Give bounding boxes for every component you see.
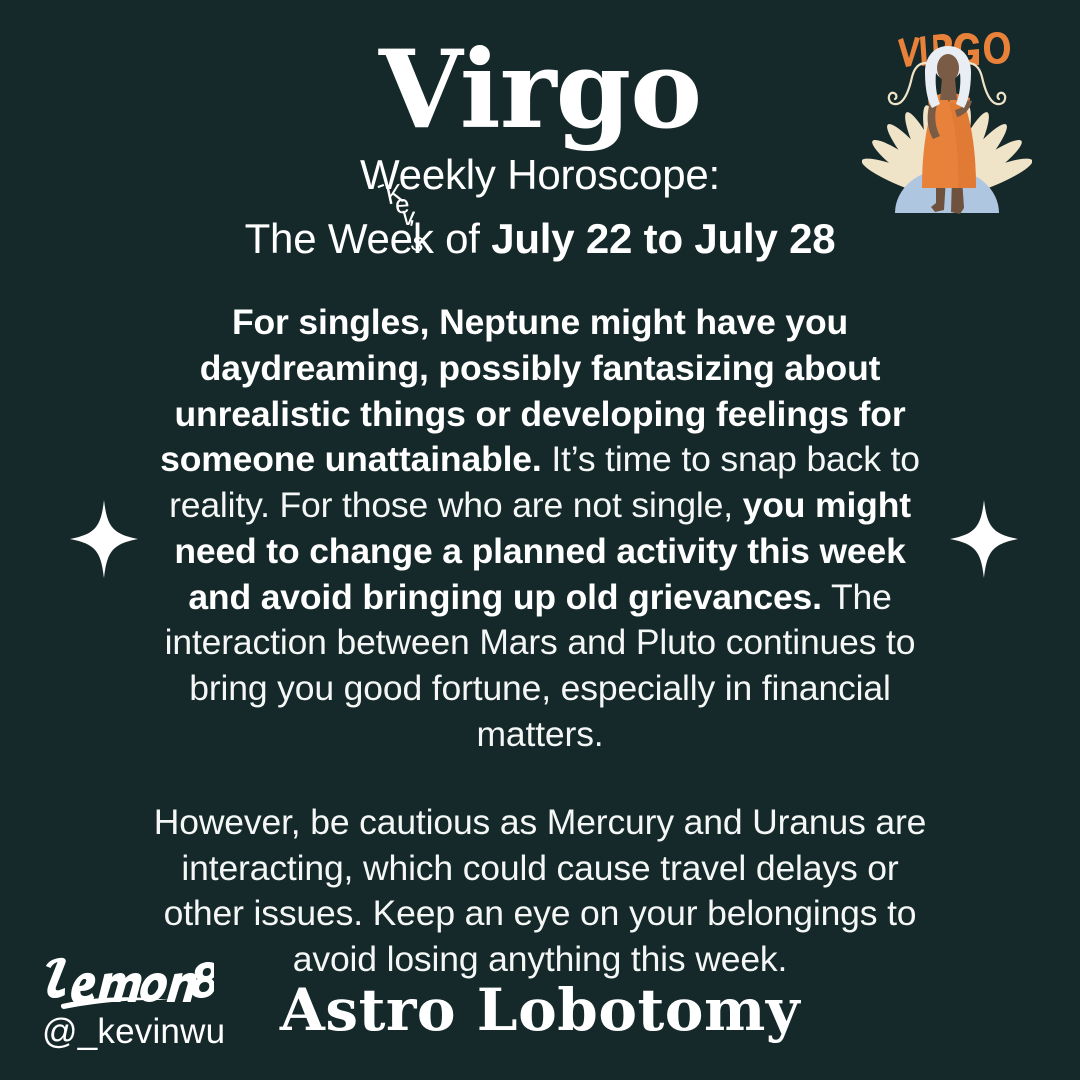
- date-range-prefix: The Week of: [245, 215, 492, 262]
- subtitle-weekly-horoscope: Weekly Horoscope:: [0, 148, 1080, 202]
- paragraph-1: For singles, Neptune might have you dayd…: [140, 300, 940, 758]
- sparkle-icon-left: [70, 500, 138, 578]
- date-range-value: July 22 to July 28: [491, 215, 835, 262]
- page-title: Virgo: [0, 36, 1080, 144]
- sparkle-icon-right: [950, 500, 1018, 578]
- text-run: However, be cautious as Mercury and Uran…: [154, 802, 927, 979]
- horoscope-body: For singles, Neptune might have you dayd…: [140, 300, 940, 983]
- title-block: Virgo Weekly Horoscope: The Week of July…: [0, 36, 1080, 266]
- horoscope-card: Virgo Weekly Horoscope: The Week of July…: [0, 0, 1080, 1080]
- series-title: Astro Lobotomy: [0, 976, 1080, 1044]
- subtitle-date-range: The Week of July 22 to July 28: [0, 212, 1080, 266]
